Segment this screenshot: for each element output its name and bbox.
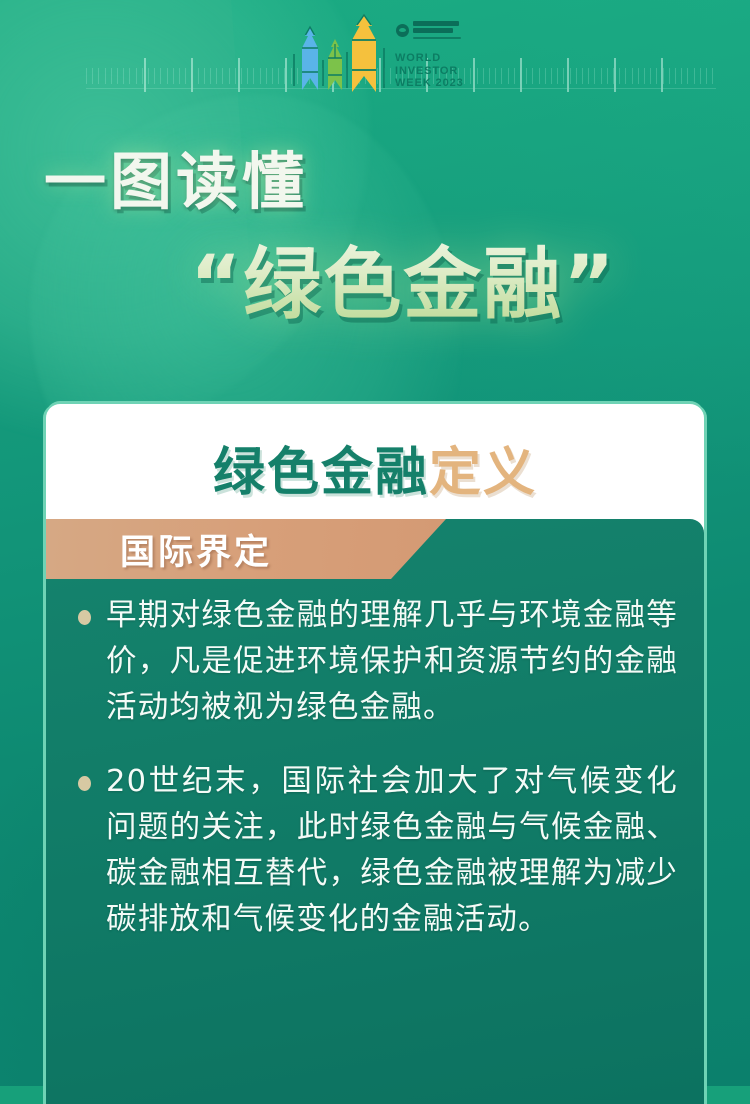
ruler-minor-tick — [173, 68, 174, 84]
ruler-minor-tick — [229, 68, 230, 84]
ruler-minor-tick — [136, 68, 137, 84]
card-title-subject: 绿色金融 — [213, 443, 429, 503]
ruler-minor-tick — [694, 68, 695, 84]
ruler-minor-tick — [712, 68, 713, 84]
ruler-minor-tick — [625, 68, 626, 84]
event-line-1: WORLD — [395, 52, 464, 65]
ruler-minor-tick — [111, 68, 112, 84]
ruler-minor-tick — [204, 68, 205, 84]
ruler-minor-tick — [563, 68, 564, 84]
ruler-major-tick — [285, 58, 287, 92]
ruler-minor-tick — [198, 68, 199, 84]
ruler-minor-tick — [638, 68, 639, 84]
paragraph-text: 早期对绿色金融的理解几乎与环境金融等价，凡是促进环境保护和资源节约的金融活动均被… — [106, 593, 678, 731]
ruler-minor-tick — [278, 68, 279, 84]
pencil-rockets-icon — [292, 12, 392, 104]
ruler-minor-tick — [160, 68, 161, 84]
headline-primary: 一图读懂 — [44, 131, 308, 221]
card-title: 绿色金融定义 — [46, 430, 704, 505]
regulator-wordmark — [413, 21, 461, 39]
paragraph-text: 20世纪末，国际社会加大了对气候变化问题的关注，此时绿色金融与气候金融、碳金融相… — [106, 759, 678, 943]
ruler-minor-tick — [123, 68, 124, 84]
ruler-minor-tick — [148, 68, 149, 84]
ruler-minor-tick — [154, 68, 155, 84]
ruler-minor-tick — [185, 68, 186, 84]
ruler-minor-tick — [644, 68, 645, 84]
ruler-minor-tick — [241, 68, 242, 84]
ruler-minor-tick — [539, 68, 540, 84]
event-name-text: WORLD INVESTOR WEEK 2023 — [395, 52, 464, 90]
ruler-minor-tick — [619, 68, 620, 84]
ruler-minor-tick — [532, 68, 533, 84]
ruler-minor-tick — [632, 68, 633, 84]
paragraph-list: 早期对绿色金融的理解几乎与环境金融等价，凡是促进环境保护和资源节约的金融活动均被… — [46, 593, 704, 971]
ruler-minor-tick — [557, 68, 558, 84]
list-item: 早期对绿色金融的理解几乎与环境金融等价，凡是促进环境保护和资源节约的金融活动均被… — [76, 593, 678, 731]
ruler-minor-tick — [266, 68, 267, 84]
definition-card: 绿色金融定义 国际界定 早期对绿色金融的理解几乎与环境金融等价，凡是促进环境保护… — [46, 404, 704, 1104]
bullet-icon — [78, 776, 91, 791]
ruler-minor-tick — [179, 68, 180, 84]
ruler-minor-tick — [235, 68, 236, 84]
ruler-minor-tick — [508, 68, 509, 84]
ruler-major-tick — [661, 58, 663, 92]
list-item: 20世纪末，国际社会加大了对气候变化问题的关注，此时绿色金融与气候金融、碳金融相… — [76, 759, 678, 943]
ruler-minor-tick — [247, 68, 248, 84]
ruler-major-tick — [567, 58, 569, 92]
ruler-major-tick — [238, 58, 240, 92]
section-banner-label: 国际界定 — [120, 524, 272, 575]
ruler-major-tick — [144, 58, 146, 92]
ruler-minor-tick — [260, 68, 261, 84]
ruler-major-tick — [614, 58, 616, 92]
ruler-minor-tick — [570, 68, 571, 84]
headline-topic: “绿色金融” — [190, 222, 617, 334]
ruler-minor-tick — [92, 68, 93, 84]
ruler-minor-tick — [588, 68, 589, 84]
ruler-minor-tick — [142, 68, 143, 84]
ruler-minor-tick — [700, 68, 701, 84]
ruler-minor-tick — [526, 68, 527, 84]
ruler-minor-tick — [601, 68, 602, 84]
ruler-major-tick — [520, 58, 522, 92]
ruler-minor-tick — [576, 68, 577, 84]
ruler-minor-tick — [594, 68, 595, 84]
ruler-minor-tick — [514, 68, 515, 84]
regulator-emblem-icon — [396, 24, 409, 37]
ruler-minor-tick — [675, 68, 676, 84]
ruler-minor-tick — [545, 68, 546, 84]
ruler-major-tick — [191, 58, 193, 92]
ruler-minor-tick — [105, 68, 106, 84]
ruler-minor-tick — [663, 68, 664, 84]
regulator-logo — [396, 21, 461, 39]
ruler-minor-tick — [98, 68, 99, 84]
ruler-minor-tick — [210, 68, 211, 84]
event-line-3: WEEK 2023 — [395, 77, 464, 90]
section-banner: 国际界定 — [46, 519, 446, 579]
world-investor-week-logo: WORLD INVESTOR WEEK 2023 — [292, 8, 492, 108]
ruler-minor-tick — [687, 68, 688, 84]
ruler-minor-tick — [607, 68, 608, 84]
ruler-minor-tick — [129, 68, 130, 84]
card-body: 国际界定 早期对绿色金融的理解几乎与环境金融等价，凡是促进环境保护和资源节约的金… — [46, 519, 704, 1104]
ruler-minor-tick — [706, 68, 707, 84]
ruler-minor-tick — [253, 68, 254, 84]
ruler-minor-tick — [86, 68, 87, 84]
bullet-icon — [78, 610, 91, 625]
ruler-minor-tick — [117, 68, 118, 84]
ruler-minor-tick — [582, 68, 583, 84]
ruler-minor-tick — [501, 68, 502, 84]
ruler-minor-tick — [216, 68, 217, 84]
ruler-minor-tick — [669, 68, 670, 84]
ruler-minor-tick — [222, 68, 223, 84]
ruler-minor-tick — [495, 68, 496, 84]
event-line-2: INVESTOR — [395, 65, 464, 78]
card-title-object: 定义 — [429, 443, 537, 503]
ruler-minor-tick — [681, 68, 682, 84]
ruler-minor-tick — [656, 68, 657, 84]
ruler-minor-tick — [551, 68, 552, 84]
ruler-minor-tick — [272, 68, 273, 84]
ruler-minor-tick — [167, 68, 168, 84]
ruler-minor-tick — [650, 68, 651, 84]
